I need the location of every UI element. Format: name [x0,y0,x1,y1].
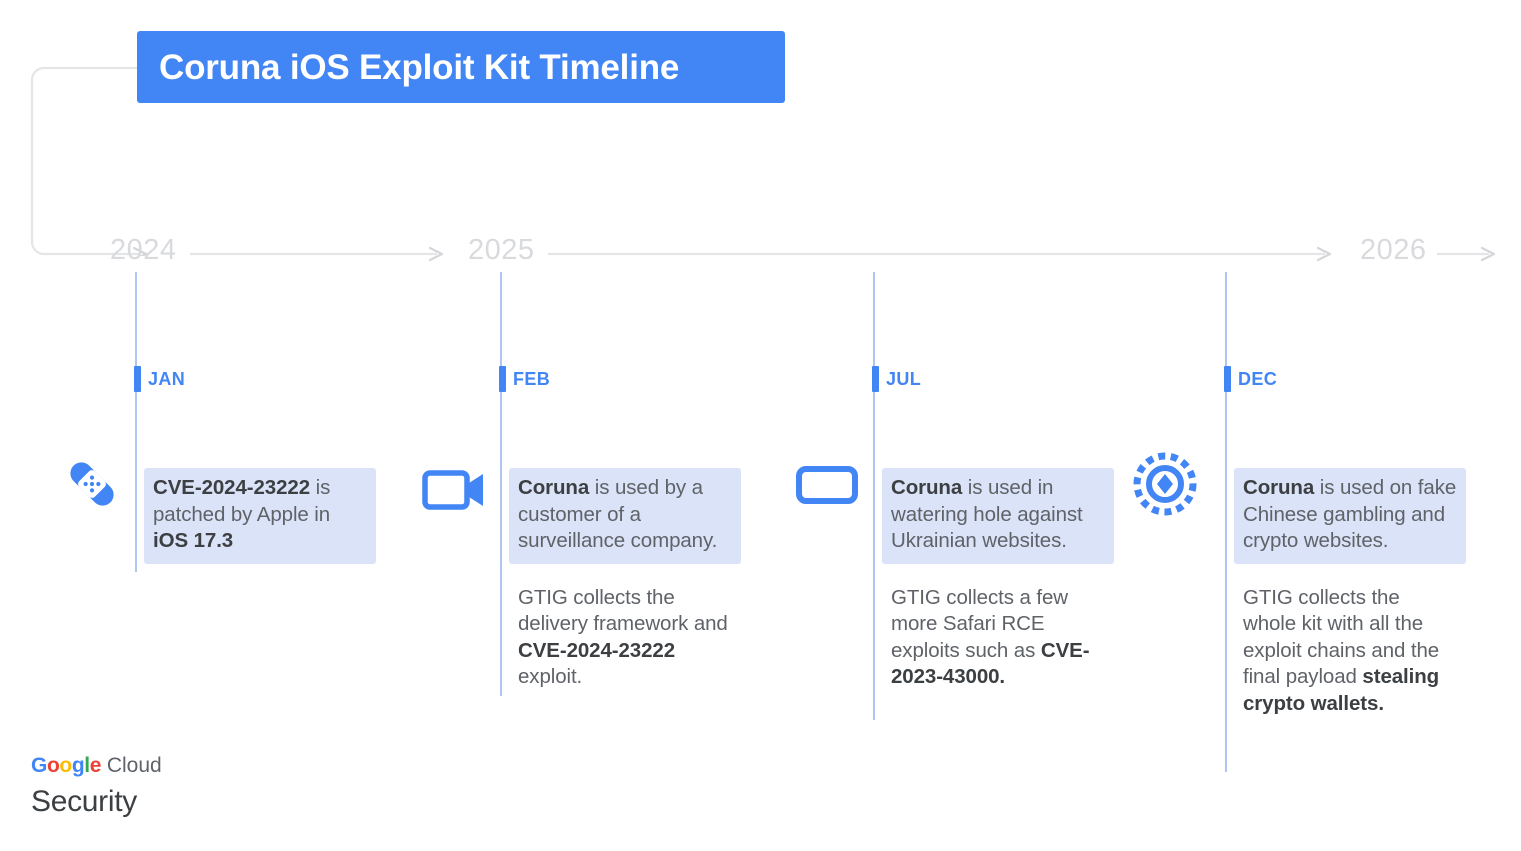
event-block-highlight: CVE-2024-23222 is patched by Apple in iO… [144,468,376,564]
crypto-coin-icon [1133,452,1197,516]
google-cloud-security-logo: Google Cloud Security [31,753,162,821]
month-marker [499,366,506,392]
event-block-plain: GTIG collects a few more Safari RCE expl… [882,578,1114,700]
browser-window-icon [795,452,859,516]
month-label-jul: JUL [886,366,921,392]
event-paragraph: Coruna is used by a customer of a survei… [518,475,732,555]
event-text-blocks: Coruna is used in watering hole against … [882,468,1114,700]
security-word: Security [31,783,162,821]
axis-year-2025: 2025 [468,236,535,265]
event-text-blocks: CVE-2024-23222 is patched by Apple in iO… [144,468,376,564]
month-label-feb: FEB [513,366,550,392]
timeline-axis [0,232,1521,276]
event-paragraph: GTIG collects the delivery framework and… [518,585,732,691]
event-block-highlight: Coruna is used by a customer of a survei… [509,468,741,564]
cloud-word: Cloud [107,754,162,777]
month-label-dec: DEC [1238,366,1277,392]
video-camera-icon [422,456,486,520]
event-stem [135,272,137,572]
event-block-plain: GTIG collects the whole kit with all the… [1234,578,1466,727]
event-stem [1225,272,1227,772]
month-marker [872,366,879,392]
axis-year-2024: 2024 [110,236,177,265]
event-paragraph: CVE-2024-23222 is patched by Apple in iO… [153,475,367,555]
event-paragraph: GTIG collects a few more Safari RCE expl… [891,585,1105,691]
month-marker [1224,366,1231,392]
month-marker [134,366,141,392]
bandage-icon [60,452,124,516]
event-text-blocks: Coruna is used on fake Chinese gambling … [1234,468,1466,726]
event-paragraph: Coruna is used on fake Chinese gambling … [1243,475,1457,555]
event-block-highlight: Coruna is used on fake Chinese gambling … [1234,468,1466,564]
event-stem [500,272,502,696]
axis-year-2026: 2026 [1360,236,1427,265]
title-banner: Coruna iOS Exploit Kit Timeline [137,31,785,103]
event-text-blocks: Coruna is used by a customer of a survei… [509,468,741,700]
google-cloud-wordmark: Google Cloud [31,753,162,779]
event-paragraph: Coruna is used in watering hole against … [891,475,1105,555]
event-paragraph: GTIG collects the whole kit with all the… [1243,585,1457,718]
page-title: Coruna iOS Exploit Kit Timeline [159,50,679,85]
event-block-plain: GTIG collects the delivery framework and… [509,578,741,700]
event-stem [873,272,875,720]
event-block-highlight: Coruna is used in watering hole against … [882,468,1114,564]
timeline-infographic: Coruna iOS Exploit Kit Timeline 2024 202… [0,0,1521,851]
month-label-jan: JAN [148,366,185,392]
